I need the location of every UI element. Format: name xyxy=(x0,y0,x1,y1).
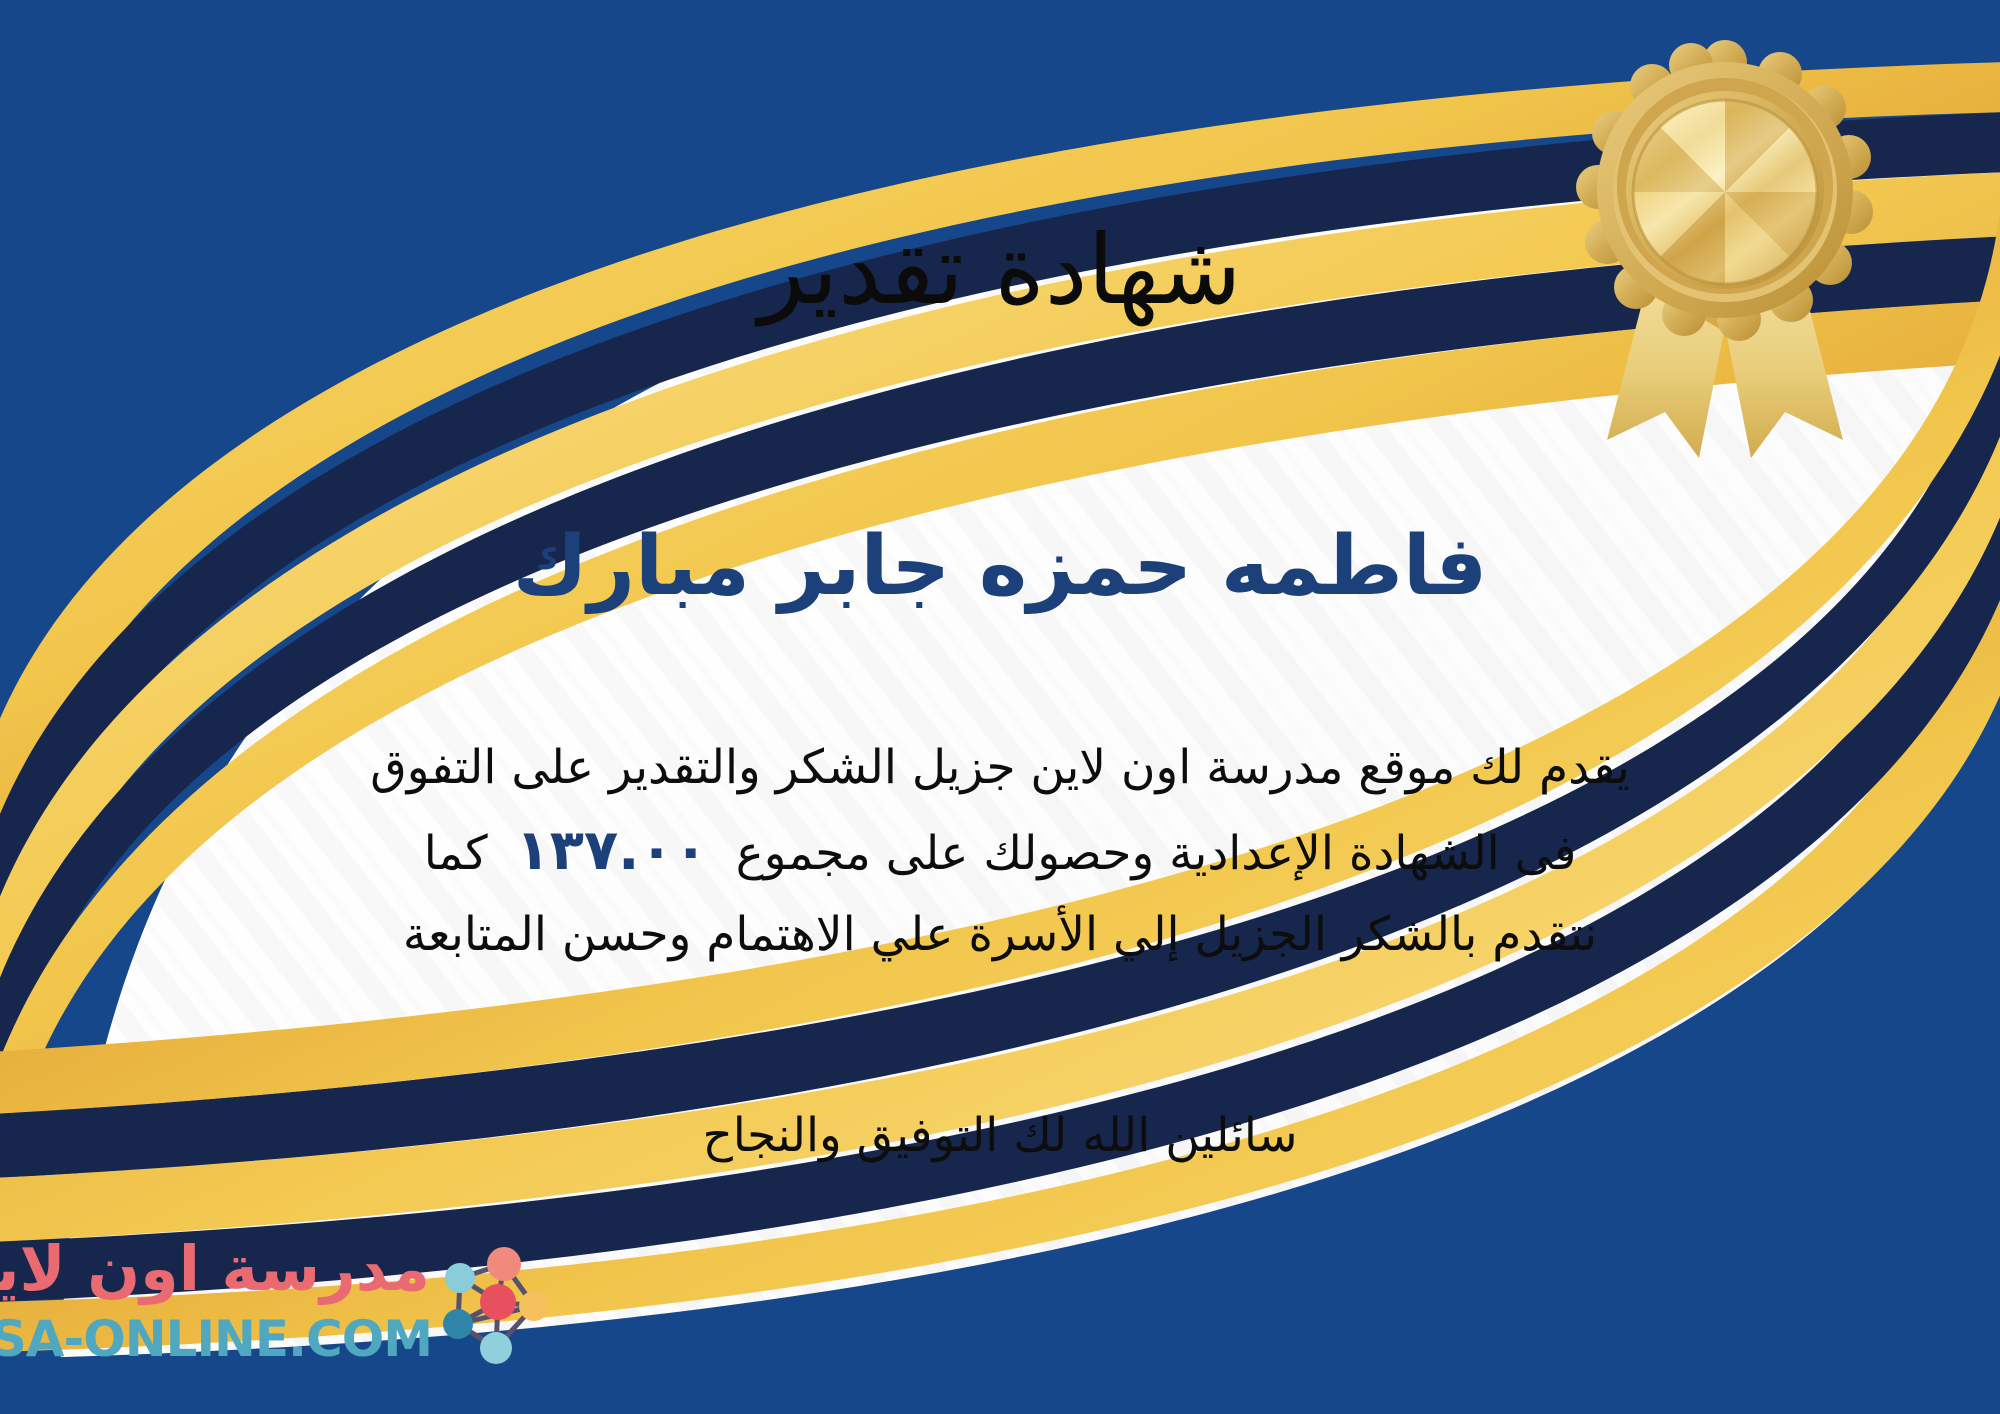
body-line-2-suffix: كما xyxy=(424,826,488,881)
brand-logo[interactable]: مدرسة اون لاين MADRSA-ONLINE.COM xyxy=(30,1232,550,1392)
brand-domain: MADRSA-ONLINE.COM xyxy=(0,1314,432,1364)
grade-total-value: ١٣٧.٠٠ xyxy=(488,818,736,883)
body-line-2: فى الشهادة الإعدادية وحصولك على مجموع١٣٧… xyxy=(95,806,1905,897)
certificate-canvas: شهادة تقدير فاطمه حمزه جابر مبارك يقدم ل… xyxy=(0,0,2000,1414)
page-title: شهادة تقدير xyxy=(0,214,2000,327)
closing-line: سائلين الله لك التوفيق والنجاح xyxy=(0,1108,2000,1163)
body-line-3: نتقدم بالشكر الجزيل إلي الأسرة علي الاهت… xyxy=(95,897,1905,973)
certificate-body: يقدم لك موقع مدرسة اون لاين جزيل الشكر و… xyxy=(95,730,1905,973)
body-line-1: يقدم لك موقع مدرسة اون لاين جزيل الشكر و… xyxy=(95,730,1905,806)
body-line-2-prefix: فى الشهادة الإعدادية وحصولك على مجموع xyxy=(736,826,1577,881)
recipient-name: فاطمه حمزه جابر مبارك xyxy=(0,518,2000,616)
network-nodes-icon xyxy=(434,1240,550,1372)
brand-arabic-name: مدرسة اون لاين xyxy=(0,1238,430,1300)
certificate-decoration xyxy=(0,0,2000,1414)
